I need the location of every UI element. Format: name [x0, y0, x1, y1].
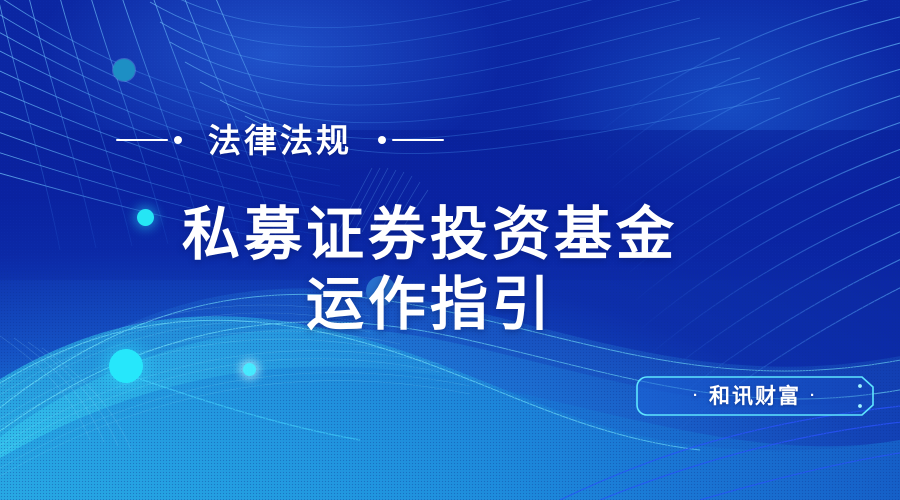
decorative-dot-cyan-tiny — [243, 363, 256, 376]
page-title: 私募证券投资基金 运作指引 — [0, 200, 860, 340]
badge-separator-left: · — [693, 388, 700, 403]
rule-left-line-icon — [116, 139, 168, 141]
kicker-label: 法律法规 — [208, 124, 352, 157]
rule-left-dot-icon — [174, 136, 182, 144]
rule-right-icon — [378, 136, 444, 144]
rule-right-dot-icon — [378, 136, 386, 144]
badge-label-row: · 和讯财富 · — [636, 376, 874, 416]
brand-badge: · 和讯财富 · — [636, 376, 874, 416]
kicker-row: 法律法规 — [0, 112, 560, 168]
title-line-1: 私募证券投资基金 — [0, 200, 860, 270]
rule-right-line-icon — [392, 139, 444, 141]
title-line-2: 运作指引 — [0, 270, 860, 340]
rule-left-icon — [116, 136, 182, 144]
promo-banner: 法律法规 私募证券投资基金 运作指引 · 和讯财富 · — [0, 0, 900, 500]
badge-separator-right: · — [810, 388, 817, 403]
decorative-dot-cyan-large — [109, 349, 143, 383]
decorative-dot-teal — [113, 59, 135, 81]
badge-label: 和讯财富 — [709, 386, 801, 407]
